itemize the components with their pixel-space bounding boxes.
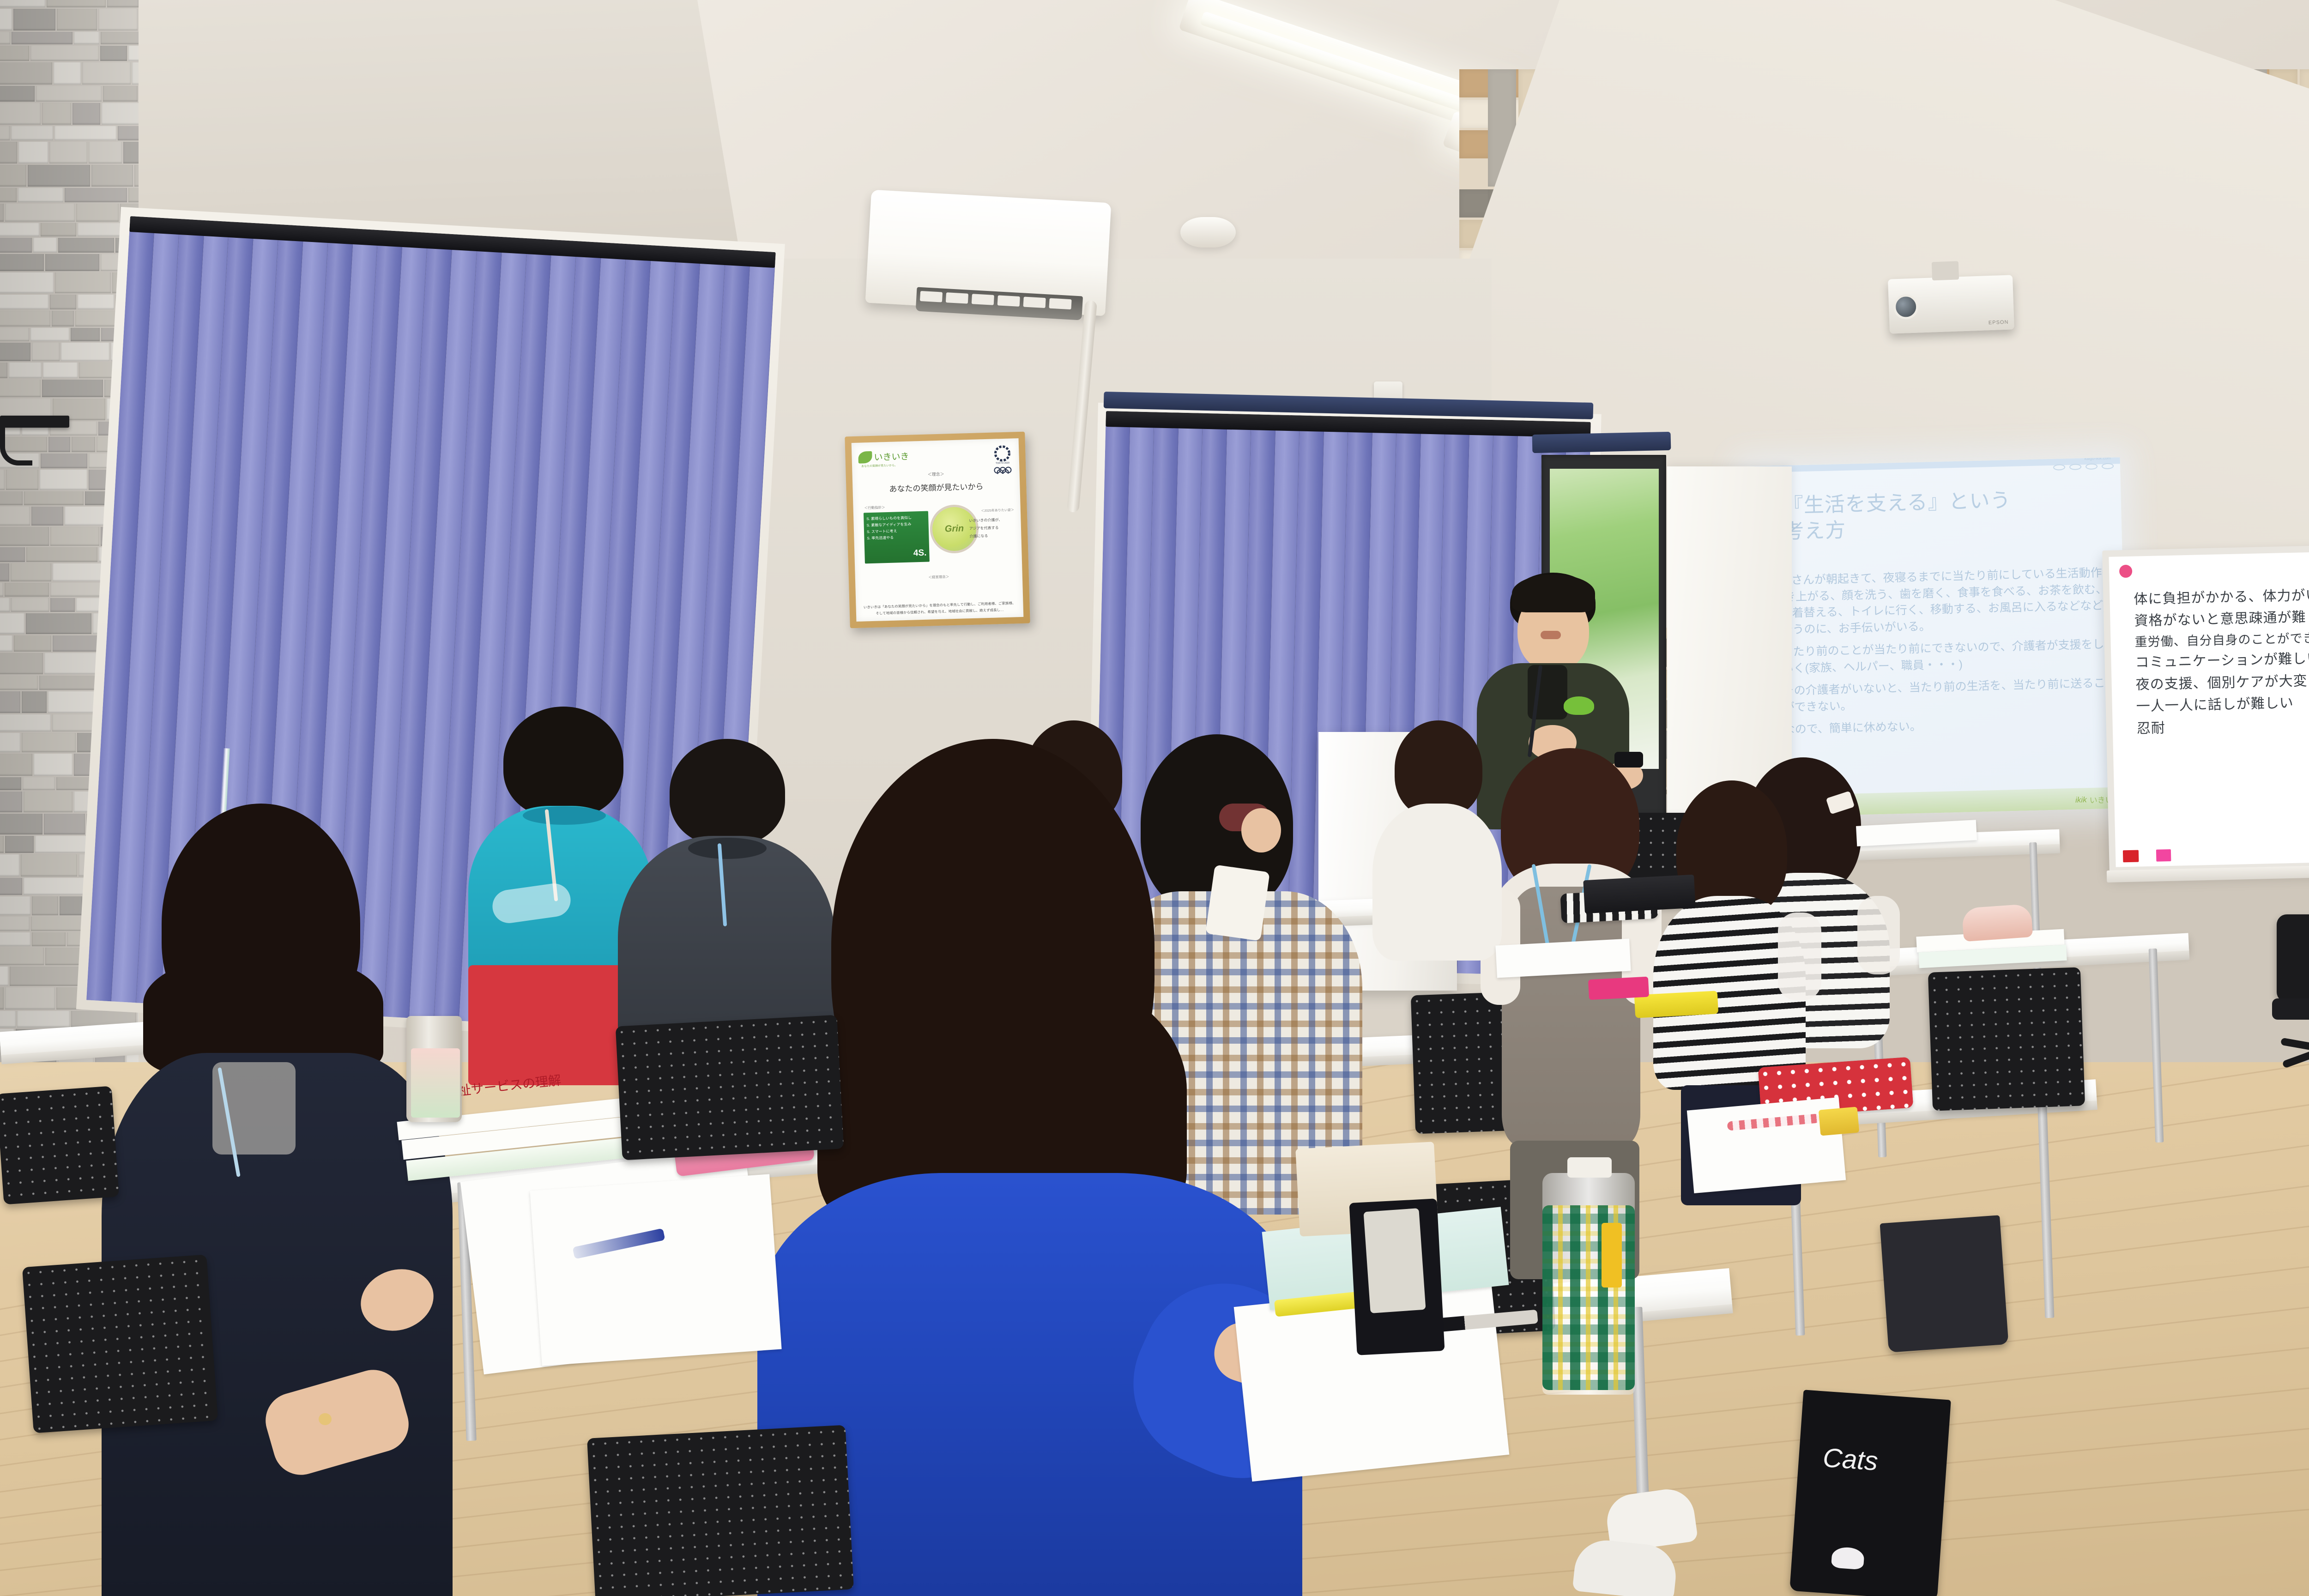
tote-bag-label: Cats xyxy=(1822,1442,1879,1477)
whiteboard[interactable]: 体に負担がかかる、体力がいる 資格がないと意思疎通が難しい 重労働、自分自身のこ… xyxy=(2102,544,2309,874)
slide-bullet-2: ・その介護者がいないと、当たり前の生活を、当たり前に送ることができない。 xyxy=(1771,675,2115,716)
slide-decor-dots xyxy=(2053,463,2114,471)
office-swivel-chair[interactable] xyxy=(2272,914,2309,1067)
bottle-cap xyxy=(1567,1157,1612,1178)
cats-tote-bag[interactable]: Cats xyxy=(1789,1390,1951,1596)
slide-title: 『生活を支える』という 考え方 xyxy=(1783,485,2098,545)
floral-slipper xyxy=(1962,904,2033,942)
poster-mission-text: いきいきは「あなたの笑顔が見たいから」を理念のもと率先して行動し、ご利用者様、ご… xyxy=(863,600,1016,617)
slide-top-url: kaigo-ikik.com xyxy=(2085,457,2111,461)
av-equipment-box xyxy=(1583,875,1695,913)
chair-mid-left[interactable] xyxy=(616,1015,844,1161)
poster-logo-jp: いきいき xyxy=(874,450,909,463)
vision-item-2: 介護になる xyxy=(969,532,1015,541)
slide-bullet-3: ・なので、簡単に休めない。 xyxy=(1771,714,2116,739)
poster-mission-label: ＜経営理念＞ xyxy=(855,572,1022,582)
ceiling-projector: EPSON xyxy=(1888,275,2014,333)
water-bottle[interactable] xyxy=(1542,1173,1635,1395)
poster-action-label: ＜行動指針＞ xyxy=(864,505,885,510)
pink-sticky-magnet-icon[interactable] xyxy=(2156,849,2171,862)
whiteboard-line-0: 体に負担がかかる、体力がいる xyxy=(2134,583,2309,611)
tumbler-graphic xyxy=(411,1048,460,1118)
chair-front-center[interactable] xyxy=(587,1425,854,1596)
slide-bullet-0: ・皆さんが朝起きて、夜寝るまでに当たり前にしている生活動作(起き上がる、顔を洗う… xyxy=(1768,565,2113,639)
poster-action-box: S. 素晴らしいものを真似し S. 素敵なアイディアを生み S. スマートに考え… xyxy=(864,511,930,564)
slide-footer-logo-en: ikik xyxy=(2075,795,2087,805)
yellow-eraser-box[interactable] xyxy=(1819,1106,1860,1136)
roller-blind-valance-right xyxy=(1532,432,1671,453)
paper-bag xyxy=(1363,1208,1426,1313)
classroom-photo: いきいき あなたの笑顔が見たいから。 ＜理念＞ あなたの笑顔が見たいから TOK… xyxy=(0,0,2309,1596)
shelf-bracket-icon xyxy=(0,424,32,465)
bottle-strap xyxy=(1602,1223,1622,1288)
poster-4s-mark: 4S. xyxy=(913,545,926,561)
poster-logo-tagline: あなたの笑顔が見たいから。 xyxy=(861,463,897,468)
olympic-label: TOKYO 2020 xyxy=(996,462,1009,465)
blue-marker-icon[interactable] xyxy=(2116,871,2167,872)
black-marker-icon[interactable] xyxy=(2235,868,2287,870)
recessed-spotlight-1 xyxy=(1180,217,1236,248)
slide-body: ・皆さんが朝起きて、夜寝るまでに当たり前にしている生活動作(起き上がる、顔を洗う… xyxy=(1768,565,2116,745)
green-marker-icon[interactable] xyxy=(2174,869,2228,871)
poster-vision-label: ＜2025年ありたい姿＞ xyxy=(981,508,1014,513)
poster-vision-text: いきいきの介護が、 アジアを代表する 介護になる xyxy=(969,516,1015,540)
slide-bullet-1: ・当たり前のことが当たり前にできないので、介護者が支援をしていく(家族、ヘルパー… xyxy=(1770,636,2114,677)
red-flag-magnet-icon[interactable] xyxy=(2123,850,2139,863)
pink-magnet-icon[interactable] xyxy=(2119,565,2133,578)
worksheet-left-2 xyxy=(530,1174,781,1366)
sheer-sleeve xyxy=(1778,913,1821,1000)
projector-brand-label: EPSON xyxy=(1989,320,2009,326)
ring-icon xyxy=(319,1413,332,1425)
poster-headline: あなたの笑顔が見たいから xyxy=(852,479,1020,495)
whiteboard-text: 体に負担がかかる、体力がいる 資格がないと意思疎通が難しい 重労働、自分自身のこ… xyxy=(2134,583,2309,740)
black-bag-right[interactable] xyxy=(1880,1215,2009,1352)
pink-notebook xyxy=(1588,977,1649,1000)
student-front-left xyxy=(102,804,443,1596)
chair-front-left[interactable] xyxy=(22,1254,218,1433)
action-item-3: S. 率先迅速やる xyxy=(867,534,926,542)
air-conditioner xyxy=(865,190,1112,316)
gray-apron xyxy=(1502,887,1640,1145)
polo-logo-icon xyxy=(1564,696,1594,715)
chair-far-left[interactable] xyxy=(0,1086,119,1205)
poster-logo: いきいき xyxy=(858,450,909,464)
tokyo2020-olympic-logo: TOKYO 2020 xyxy=(990,445,1015,474)
leaf-icon xyxy=(858,451,872,463)
projector-mount xyxy=(1932,261,1959,280)
framed-poster: いきいき あなたの笑顔が見たいから。 ＜理念＞ あなたの笑顔が見たいから TOK… xyxy=(845,432,1030,629)
chair-back-2[interactable] xyxy=(1928,967,2085,1111)
cat-silhouette-icon xyxy=(1831,1547,1865,1570)
projector-lens-icon xyxy=(1893,294,1919,320)
